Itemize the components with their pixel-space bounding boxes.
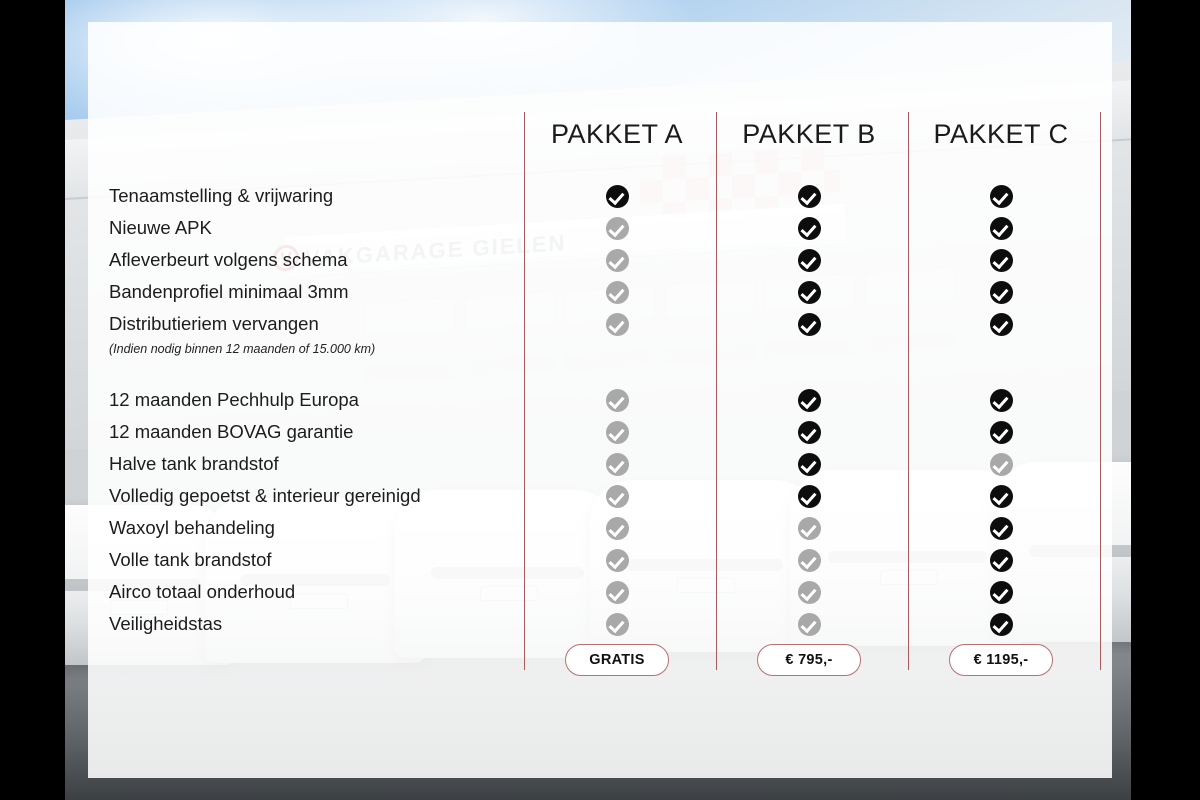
group-gap [716,360,902,384]
check-cell [908,244,1094,276]
check-cell [716,448,902,480]
group-gap [524,360,710,384]
check-cell [716,244,902,276]
price-pill-pakket-a[interactable]: GRATIS [565,644,669,676]
price-pill-pakket-b[interactable]: € 795,- [757,644,861,676]
check-cell [908,212,1094,244]
check-included-icon [990,281,1013,304]
check-excluded-icon [606,549,629,572]
check-included-icon [798,453,821,476]
check-excluded-icon [606,313,629,336]
check-excluded-icon [798,613,821,636]
column-header-pakket-c: PAKKET C [908,119,1094,150]
check-cell [716,608,902,640]
group-gap [908,360,1094,384]
check-cell [524,448,710,480]
check-excluded-icon [606,581,629,604]
check-included-icon [990,389,1013,412]
check-cell [524,384,710,416]
check-included-icon [990,549,1013,572]
check-included-icon [798,389,821,412]
check-included-icon [798,217,821,240]
check-cell [716,308,902,340]
check-excluded-icon [606,517,629,540]
column-header-pakket-a: PAKKET A [524,119,710,150]
feature-label: 12 maanden BOVAG garantie [109,416,509,448]
check-cell [908,416,1094,448]
check-cell [716,512,902,544]
check-cell [908,608,1094,640]
feature-label: Nieuwe APK [109,212,509,244]
check-excluded-icon [606,281,629,304]
check-cell [716,480,902,512]
check-cell [716,416,902,448]
check-cell [908,480,1094,512]
check-included-icon [798,249,821,272]
feature-label: Halve tank brandstof [109,448,509,480]
check-cell [524,576,710,608]
feature-label: Distributieriem vervangen [109,308,509,340]
check-included-icon [798,485,821,508]
check-excluded-icon [798,549,821,572]
check-included-icon [606,185,629,208]
check-excluded-icon [606,389,629,412]
feature-label: Veiligheidstas [109,608,509,640]
check-included-icon [990,217,1013,240]
check-cell [524,180,710,212]
check-column-pakket-c [908,180,1094,640]
check-cell [524,212,710,244]
feature-label: Volledig gepoetst & interieur gereinigd [109,480,509,512]
check-excluded-icon [606,453,629,476]
check-cell [908,576,1094,608]
check-cell [908,544,1094,576]
check-included-icon [798,313,821,336]
check-cell [524,244,710,276]
screenshot-root: V VAKGARAGE GIELEN PAKKET A PAKKET B PAK… [0,0,1200,800]
check-cell [908,180,1094,212]
check-included-icon [798,185,821,208]
check-cell [908,384,1094,416]
feature-note: (Indien nodig binnen 12 maanden of 15.00… [109,340,509,360]
column-header-pakket-b: PAKKET B [716,119,902,150]
check-included-icon [990,313,1013,336]
column-divider [1100,112,1101,670]
feature-label: Volle tank brandstof [109,544,509,576]
check-excluded-icon [606,249,629,272]
check-included-icon [990,485,1013,508]
check-excluded-icon [606,485,629,508]
check-cell [524,308,710,340]
price-pill-pakket-c[interactable]: € 1195,- [949,644,1053,676]
check-included-icon [990,581,1013,604]
check-cell [524,276,710,308]
check-cell [908,276,1094,308]
check-excluded-icon [798,517,821,540]
check-cell [908,448,1094,480]
note-spacer [716,340,902,360]
check-included-icon [990,185,1013,208]
check-included-icon [990,249,1013,272]
check-included-icon [990,421,1013,444]
check-excluded-icon [990,453,1013,476]
check-cell [524,608,710,640]
check-excluded-icon [798,581,821,604]
note-spacer [524,340,710,360]
check-cell [524,512,710,544]
note-spacer [908,340,1094,360]
check-cell [524,544,710,576]
feature-label: Tenaamstelling & vrijwaring [109,180,509,212]
check-included-icon [798,421,821,444]
check-excluded-icon [606,217,629,240]
check-cell [716,576,902,608]
check-excluded-icon [606,613,629,636]
feature-label: Airco totaal onderhoud [109,576,509,608]
check-cell [524,416,710,448]
check-cell [524,480,710,512]
check-included-icon [798,281,821,304]
group-gap [109,360,509,384]
check-included-icon [990,517,1013,540]
feature-label: 12 maanden Pechhulp Europa [109,384,509,416]
check-cell [716,544,902,576]
check-excluded-icon [606,421,629,444]
check-included-icon [990,613,1013,636]
check-cell [716,212,902,244]
feature-label: Waxoyl behandeling [109,512,509,544]
check-cell [716,180,902,212]
check-cell [908,308,1094,340]
feature-label-list: Tenaamstelling & vrijwaringNieuwe APKAfl… [109,180,509,640]
check-cell [908,512,1094,544]
check-column-pakket-b [716,180,902,640]
check-column-pakket-a [524,180,710,640]
feature-label: Bandenprofiel minimaal 3mm [109,276,509,308]
check-cell [716,384,902,416]
check-cell [716,276,902,308]
feature-label: Afleverbeurt volgens schema [109,244,509,276]
